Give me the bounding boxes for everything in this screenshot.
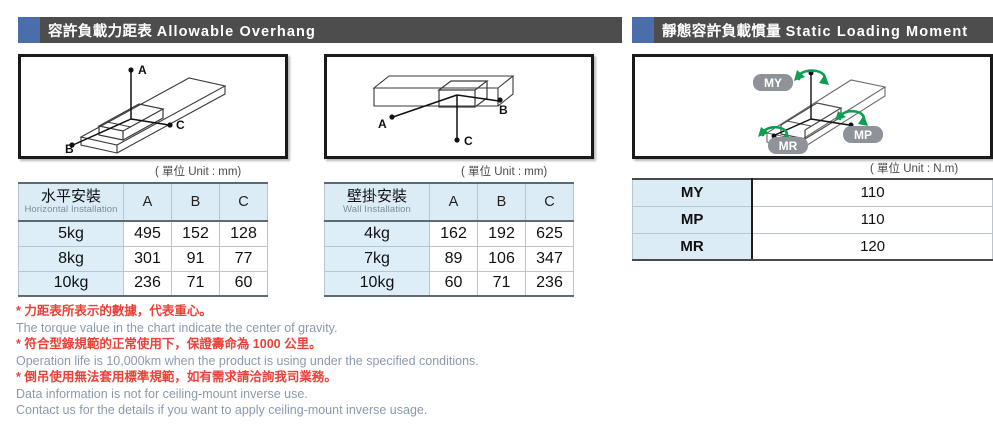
moment-row-value: 110: [752, 179, 992, 206]
diagram-static-loading-moment: MY MP MR: [632, 54, 993, 159]
cell-a: 60: [430, 271, 478, 296]
diagram-h-label-c: C: [176, 118, 185, 132]
table-row: 10kg 236 71 60: [19, 271, 268, 296]
footnote-line: * 力距表所表示的數據，代表重心。: [16, 303, 616, 320]
svg-text:MP: MP: [854, 128, 872, 142]
horizontal-rail-illustration: A B C: [21, 57, 285, 156]
moment-rail-illustration: MY MP MR: [635, 57, 990, 156]
footnote-line: * 倒吊使用無法套用標準規範，如有需求請洽詢我司業務。: [16, 369, 616, 386]
diagram-wall-installation: A B C: [324, 54, 594, 159]
section-header-allowable-overhang: 容許負載力距表 Allowable Overhang: [18, 17, 622, 43]
moment-row-label: MP: [633, 206, 753, 233]
cell-a: 236: [124, 271, 172, 296]
diagram-horizontal-installation: A B C: [18, 54, 288, 159]
header-cell-wall: 壁掛安裝 Wall Installation: [325, 183, 430, 221]
cell-c: 128: [220, 221, 268, 246]
header-cell-en: Horizontal Installation: [19, 205, 123, 215]
wall-rail-illustration: A B C: [327, 57, 591, 156]
header-cell-horizontal: 水平安裝 Horizontal Installation: [19, 183, 124, 221]
footnote-line: Contact us for the details if you want t…: [16, 402, 616, 419]
spec-sheet: 容許負載力距表 Allowable Overhang 靜態容許負載慣量 Stat…: [0, 0, 993, 425]
table-static-loading-moment: MY 110 MP 110 MR 120: [632, 178, 993, 261]
column-header-a: A: [124, 183, 172, 221]
footnote-line: Operation life is 10,000km when the prod…: [16, 353, 616, 370]
column-header-c: C: [526, 183, 574, 221]
diagram-h-label-b: B: [65, 142, 74, 156]
unit-caption-horizontal: ( 單位 Unit : mm): [155, 163, 241, 179]
diagram-w-label-a: A: [378, 117, 387, 131]
cell-c: 77: [220, 246, 268, 271]
svg-text:MY: MY: [764, 76, 782, 90]
table-row: MY 110: [633, 179, 993, 206]
table-row: 8kg 301 91 77: [19, 246, 268, 271]
moment-row-value: 110: [752, 206, 992, 233]
diagram-h-label-a: A: [138, 63, 147, 77]
section-header-left-text: 容許負載力距表 Allowable Overhang: [40, 20, 316, 41]
cell-b: 192: [478, 221, 526, 246]
table-row-header: 壁掛安裝 Wall Installation A B C: [325, 183, 574, 221]
unit-caption-wall: ( 單位 Unit : mm): [461, 163, 547, 179]
column-header-b: B: [478, 183, 526, 221]
cell-b: 71: [172, 271, 220, 296]
section-header-right-cn: 靜態容許負載慣量: [662, 24, 781, 40]
moment-label-my: MY: [753, 74, 793, 91]
cell-b: 152: [172, 221, 220, 246]
header-cell-en: Wall Installation: [325, 205, 429, 215]
section-header-static-loading-moment: 靜態容許負載慣量 Static Loading Moment: [632, 17, 993, 43]
table-row: 5kg 495 152 128: [19, 221, 268, 246]
section-header-left-cn: 容許負載力距表: [48, 24, 152, 40]
diagram-w-label-c: C: [464, 134, 473, 148]
row-label: 5kg: [19, 221, 124, 246]
table-row: MR 120: [633, 233, 993, 260]
column-header-c: C: [220, 183, 268, 221]
moment-label-mp: MP: [843, 126, 883, 143]
section-header-left-en: Allowable Overhang: [157, 24, 316, 40]
table-row: 7kg 89 106 347: [325, 246, 574, 271]
cell-c: 60: [220, 271, 268, 296]
table-horizontal-installation: 水平安裝 Horizontal Installation A B C 5kg 4…: [18, 182, 268, 297]
table-wall-installation: 壁掛安裝 Wall Installation A B C 4kg 162 192…: [324, 182, 574, 297]
moment-row-value: 120: [752, 233, 992, 260]
footnote-line: * 符合型錄規範的正常使用下，保證壽命為 1000 公里。: [16, 336, 616, 353]
row-label: 4kg: [325, 221, 430, 246]
cell-a: 301: [124, 246, 172, 271]
footnote-line: The torque value in the chart indicate t…: [16, 320, 616, 337]
row-label: 7kg: [325, 246, 430, 271]
table-row: 10kg 60 71 236: [325, 271, 574, 296]
column-header-b: B: [172, 183, 220, 221]
moment-row-label: MR: [633, 233, 753, 260]
row-label: 10kg: [19, 271, 124, 296]
cell-a: 89: [430, 246, 478, 271]
footnote-line: Data information is not for ceiling-moun…: [16, 386, 616, 403]
moment-label-mr: MR: [768, 137, 808, 154]
cell-b: 106: [478, 246, 526, 271]
section-header-right-en: Static Loading Moment: [786, 24, 969, 40]
cell-c: 625: [526, 221, 574, 246]
row-label: 8kg: [19, 246, 124, 271]
header-cell-cn: 壁掛安裝: [325, 189, 429, 205]
cell-c: 347: [526, 246, 574, 271]
section-header-right-text: 靜態容許負載慣量 Static Loading Moment: [654, 20, 968, 41]
cell-b: 91: [172, 246, 220, 271]
cell-a: 162: [430, 221, 478, 246]
cell-c: 236: [526, 271, 574, 296]
header-cell-cn: 水平安裝: [19, 189, 123, 205]
cell-b: 71: [478, 271, 526, 296]
svg-text:MR: MR: [779, 139, 798, 153]
unit-caption-moment: ( 單位 Unit : N.m): [870, 160, 958, 176]
row-label: 10kg: [325, 271, 430, 296]
footnotes: * 力距表所表示的數據，代表重心。 The torque value in th…: [16, 303, 616, 419]
diagram-w-label-b: B: [499, 103, 508, 117]
moment-row-label: MY: [633, 179, 753, 206]
column-header-a: A: [430, 183, 478, 221]
accent-block-right: [632, 17, 654, 43]
table-row: MP 110: [633, 206, 993, 233]
accent-block-left: [18, 17, 40, 43]
table-row: 4kg 162 192 625: [325, 221, 574, 246]
cell-a: 495: [124, 221, 172, 246]
table-row-header: 水平安裝 Horizontal Installation A B C: [19, 183, 268, 221]
